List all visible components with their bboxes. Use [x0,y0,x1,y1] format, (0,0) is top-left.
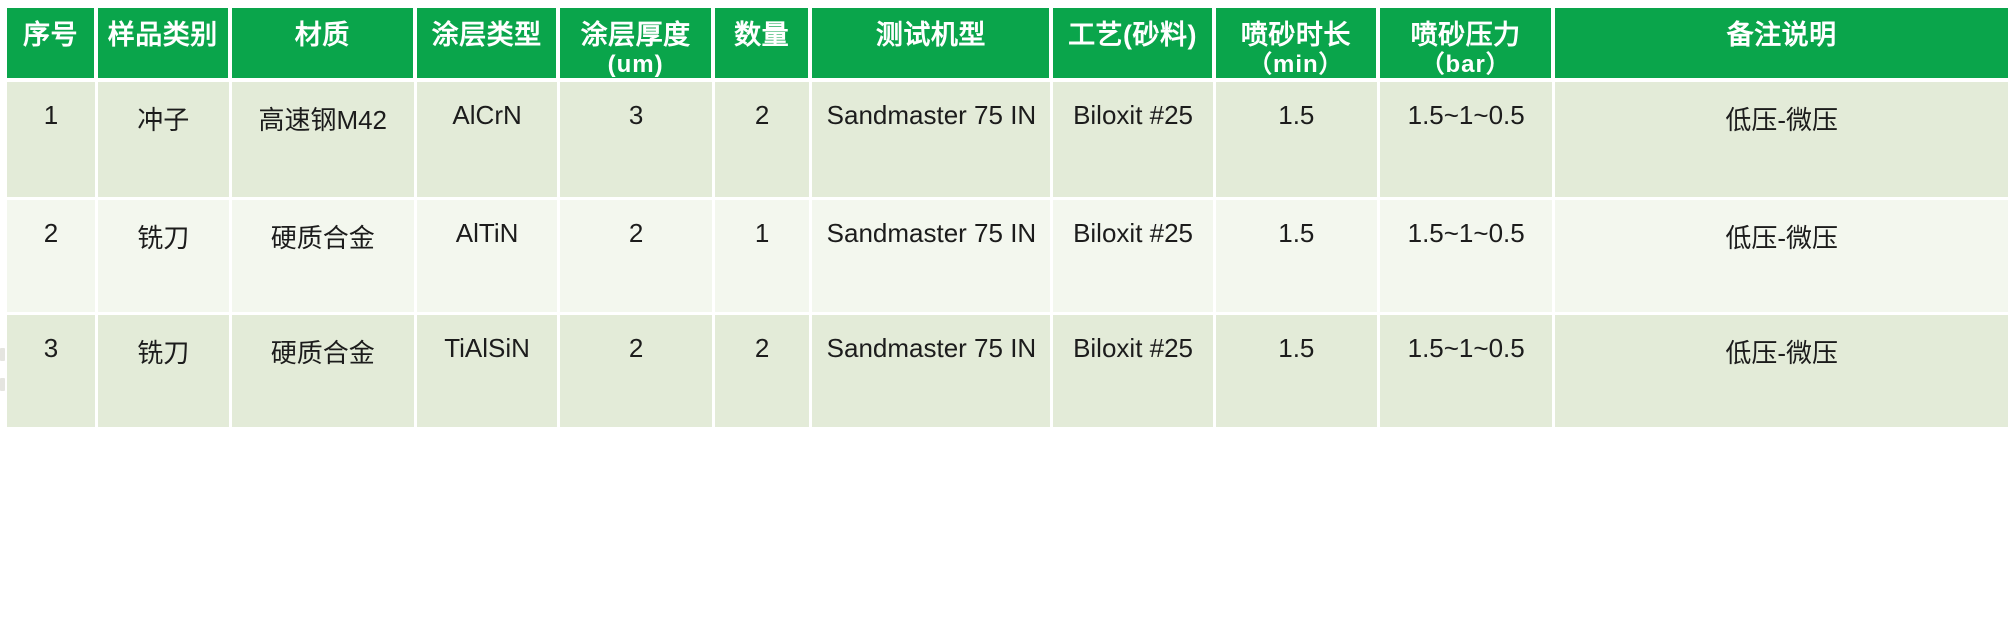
column-header-thickness[interactable]: 涂层厚度 (um) [560,8,715,82]
column-header-thickness-unit: (um) [562,51,709,78]
cell-blasttime[interactable]: 1.5 [1216,197,1380,312]
column-header-process-label: 工艺(砂料) [1068,20,1197,50]
column-header-material[interactable]: 材质 [232,8,417,82]
cell-thickness[interactable]: 2 [560,197,715,312]
cell-coating[interactable]: AlTiN [417,197,561,312]
column-header-quantity-label: 数量 [734,20,789,50]
column-header-seq-label: 序号 [23,20,78,50]
cell-material[interactable]: 硬质合金 [232,197,417,312]
cell-machine[interactable]: Sandmaster 75 IN [812,197,1053,312]
column-header-blasttime-label: 喷砂时长 [1241,20,1351,50]
cell-process[interactable]: Biloxit #25 [1053,312,1215,427]
table-header: 序号 样品类别 材质 涂层类型 涂层厚度 (um) 数量 [7,8,2008,82]
cell-remark[interactable]: 低压-微压 [1555,312,2008,427]
cell-material[interactable]: 高速钢M42 [232,82,417,197]
cell-machine[interactable]: Sandmaster 75 IN [812,82,1053,197]
column-header-machine[interactable]: 测试机型 [812,8,1053,82]
column-header-machine-label: 测试机型 [876,20,986,50]
column-header-blasttime-unit: （min） [1218,51,1374,78]
table-row[interactable]: 2 铣刀 硬质合金 AlTiN 2 1 Sandmaster 75 IN Bil… [7,197,2008,312]
cell-remark[interactable]: 低压-微压 [1555,197,2008,312]
column-header-blasttime[interactable]: 喷砂时长 （min） [1216,8,1380,82]
column-header-process[interactable]: 工艺(砂料) [1053,8,1215,82]
cell-thickness[interactable]: 3 [560,82,715,197]
cell-seq[interactable]: 2 [7,197,98,312]
column-header-pressure[interactable]: 喷砂压力 （bar） [1380,8,1555,82]
cell-seq[interactable]: 3 [7,312,98,427]
cell-process[interactable]: Biloxit #25 [1053,82,1215,197]
spreadsheet-canvas: 序号 样品类别 材质 涂层类型 涂层厚度 (um) 数量 [0,0,2015,637]
column-header-pressure-label: 喷砂压力 [1411,20,1521,50]
column-header-pressure-unit: （bar） [1382,51,1549,78]
table-row[interactable]: 1 冲子 高速钢M42 AlCrN 3 2 Sandmaster 75 IN B… [7,82,2008,197]
left-edge-clipped-glyph-upper [0,348,5,361]
cell-material[interactable]: 硬质合金 [232,312,417,427]
table-row[interactable]: 3 铣刀 硬质合金 TiAlSiN 2 2 Sandmaster 75 IN B… [7,312,2008,427]
column-header-sample-label: 样品类别 [108,20,218,50]
column-header-remark-label: 备注说明 [1727,20,1837,50]
left-edge-clipped-glyph-lower [0,378,5,391]
header-row: 序号 样品类别 材质 涂层类型 涂层厚度 (um) 数量 [7,8,2008,82]
column-header-remark[interactable]: 备注说明 [1555,8,2008,82]
column-header-seq[interactable]: 序号 [7,8,98,82]
table-body: 1 冲子 高速钢M42 AlCrN 3 2 Sandmaster 75 IN B… [7,82,2008,427]
cell-sample[interactable]: 铣刀 [98,197,232,312]
cell-coating[interactable]: TiAlSiN [417,312,561,427]
cell-seq[interactable]: 1 [7,82,98,197]
cell-pressure[interactable]: 1.5~1~0.5 [1380,312,1555,427]
column-header-material-label: 材质 [295,20,350,50]
cell-pressure[interactable]: 1.5~1~0.5 [1380,197,1555,312]
column-header-quantity[interactable]: 数量 [715,8,813,82]
cell-sample[interactable]: 铣刀 [98,312,232,427]
cell-remark[interactable]: 低压-微压 [1555,82,2008,197]
cell-sample[interactable]: 冲子 [98,82,232,197]
column-header-coating-label: 涂层类型 [432,20,542,50]
cell-process[interactable]: Biloxit #25 [1053,197,1215,312]
sample-blasting-parameters-table: 序号 样品类别 材质 涂层类型 涂层厚度 (um) 数量 [7,8,2008,427]
cell-machine[interactable]: Sandmaster 75 IN [812,312,1053,427]
cell-quantity[interactable]: 2 [715,312,813,427]
column-header-coating[interactable]: 涂层类型 [417,8,561,82]
cell-quantity[interactable]: 2 [715,82,813,197]
column-header-sample[interactable]: 样品类别 [98,8,232,82]
cell-thickness[interactable]: 2 [560,312,715,427]
cell-blasttime[interactable]: 1.5 [1216,312,1380,427]
cell-quantity[interactable]: 1 [715,197,813,312]
cell-coating[interactable]: AlCrN [417,82,561,197]
column-header-thickness-label: 涂层厚度 [581,20,691,50]
cell-pressure[interactable]: 1.5~1~0.5 [1380,82,1555,197]
cell-blasttime[interactable]: 1.5 [1216,82,1380,197]
